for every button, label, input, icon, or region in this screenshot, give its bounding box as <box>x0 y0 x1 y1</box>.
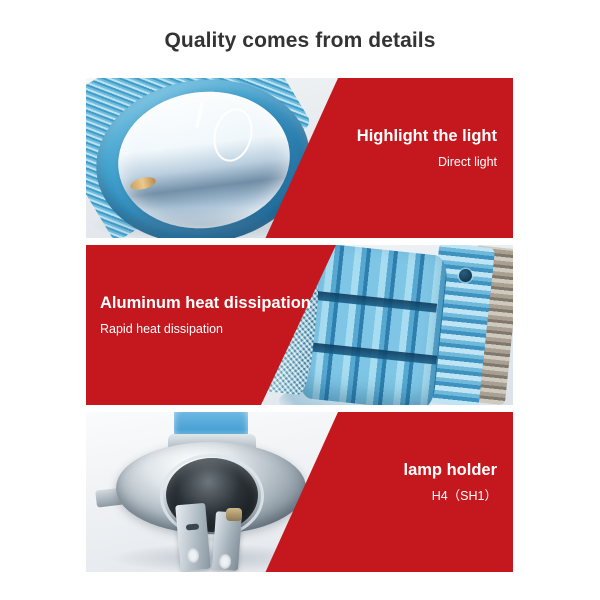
caption-subheading: Rapid heat dissipation <box>100 321 311 337</box>
caption-subheading: Direct light <box>357 154 497 170</box>
caption-heading: Highlight the light <box>357 126 497 147</box>
caption-panel-3: lamp holder H4（SH1） <box>403 460 497 504</box>
feature-panel-highlight-the-light: Highlight the light Direct light <box>86 78 513 238</box>
feature-panel-aluminum-heat-dissipation: Aluminum heat dissipation Rapid heat dis… <box>86 245 513 405</box>
caption-subheading: H4（SH1） <box>403 488 497 504</box>
caption-heading: Aluminum heat dissipation <box>100 293 311 314</box>
caption-heading: lamp holder <box>403 460 497 481</box>
bulb-contact-screw <box>226 508 242 521</box>
feature-panel-lamp-holder: lamp holder H4（SH1） <box>86 412 513 572</box>
bulb-hub-ring <box>160 454 264 538</box>
caption-panel-1: Highlight the light Direct light <box>357 126 497 170</box>
product-feature-infographic: Quality comes from details Highlight the… <box>0 0 600 600</box>
heat-sink-vent-hole <box>459 269 472 282</box>
page-title: Quality comes from details <box>0 29 600 53</box>
caption-panel-2: Aluminum heat dissipation Rapid heat dis… <box>100 293 311 337</box>
